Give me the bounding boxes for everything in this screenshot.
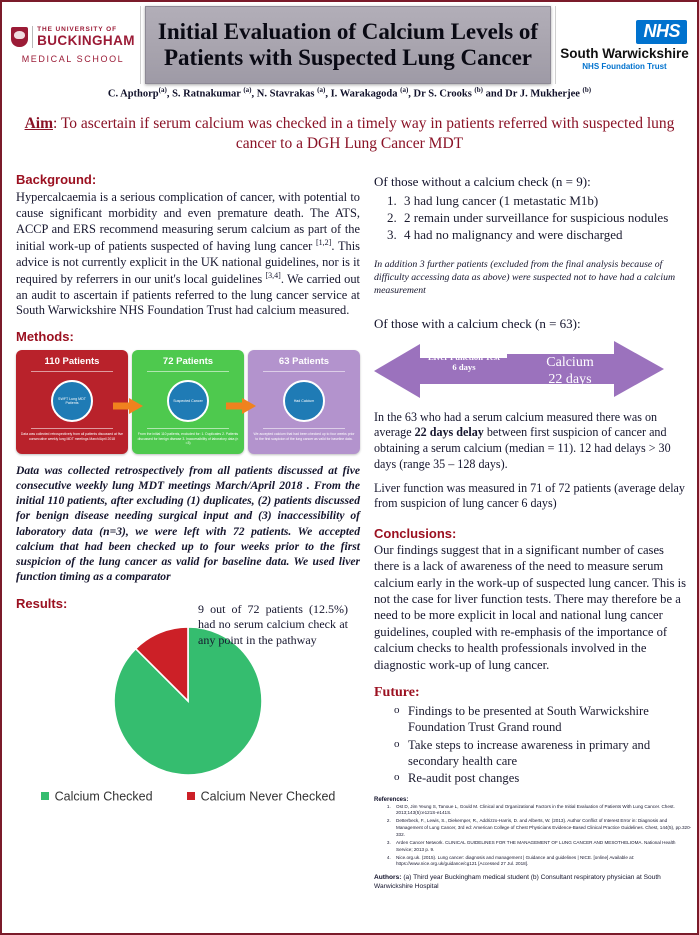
pie-chart-legend: Calcium Checked Calcium Never Checked <box>41 789 336 804</box>
future-section: Future: Findings to be presented at Sout… <box>374 685 692 787</box>
delay-text-bold: 22 days delay <box>415 425 484 439</box>
list-item: 4 had no malignancy and were discharged <box>400 226 692 243</box>
results-note: 9 out of 72 patients (12.5%) had no seru… <box>198 602 348 649</box>
legend-item-checked: Calcium Checked <box>41 789 153 804</box>
legend-label-never-checked: Calcium Never Checked <box>201 789 336 803</box>
flow-box-63-rule <box>263 371 346 372</box>
methods-caption: Data was collected retrospectively from … <box>16 463 360 584</box>
flow-box-72-rule <box>147 371 230 372</box>
references-list: Ost D, Jim Yeung S, Tanoue L, Gould M. C… <box>374 804 692 868</box>
authors-note: Authors: (a) Third year Buckingham medic… <box>374 874 692 892</box>
list-item: 3 had lung cancer (1 metastatic M1b) <box>400 192 692 209</box>
aim-statement: Aim: To ascertain if serum calcium was c… <box>18 114 681 154</box>
list-item: Arden Cancer Network. CLINICAL GUIDELINE… <box>392 840 692 853</box>
methods-heading: Methods: <box>16 329 360 344</box>
poster-title-banner: Initial Evaluation of Calcium Levels of … <box>145 6 551 84</box>
background-heading: Background: <box>16 172 360 187</box>
list-item: Detterbeck, F., Lewis, S., Diekemper, R.… <box>392 818 692 838</box>
flow-box-110: 110 Patients SWFT Lung MDT Patients Data… <box>16 350 128 454</box>
buckingham-line2: BUCKINGHAM <box>37 34 135 48</box>
without-check-list: 3 had lung cancer (1 metastatic M1b) 2 r… <box>374 192 692 243</box>
authors-note-text: (a) Third year Buckingham medical studen… <box>374 874 661 890</box>
list-item: Re-audit post changes <box>394 770 692 786</box>
without-check-lead: Of those without a calcium check (n = 9)… <box>374 174 692 190</box>
flow-box-72-foot: From the initial 110 patients, excluded … <box>132 429 244 446</box>
list-item: Ost D, Jim Yeung S, Tanoue L, Gould M. C… <box>392 804 692 817</box>
references-section: References: Ost D, Jim Yeung S, Tanoue L… <box>374 797 692 892</box>
legend-label-checked: Calcium Checked <box>55 789 153 803</box>
left-arrow-label-line2: 6 days <box>406 362 522 373</box>
results-section: Results: 9 out of 72 patients (12.5%) ha… <box>16 596 360 804</box>
nhs-trust-name: South Warwickshire <box>560 46 689 61</box>
poster-header: THE UNIVERSITY OF BUCKINGHAM MEDICAL SCH… <box>6 6 693 84</box>
flow-arrow-right-icon-2 <box>226 398 256 414</box>
flow-box-110-foot: Data was collected retrospectively from … <box>16 429 128 441</box>
logo-divider <box>32 26 33 48</box>
delay-text: In the 63 who had a serum calcium measur… <box>374 410 692 473</box>
list-item: 2 remain under surveillance for suspicio… <box>400 209 692 226</box>
future-heading: Future: <box>374 685 692 701</box>
buckingham-crest-icon <box>11 27 28 47</box>
list-item: Nice.org.uk. (2015). Lung cancer: diagno… <box>392 855 692 868</box>
pie-chart <box>114 627 262 775</box>
flow-box-110-circle: SWFT Lung MDT Patients <box>51 380 93 422</box>
flow-box-72-circle: Suspected Cancer <box>167 380 209 422</box>
buckingham-logo-row: THE UNIVERSITY OF BUCKINGHAM <box>11 26 135 48</box>
legend-swatch-checked <box>41 792 49 800</box>
poster-title-line1: Initial Evaluation of Calcium Levels of <box>158 19 538 45</box>
right-column: Of those without a calcium check (n = 9)… <box>374 174 692 892</box>
left-arrow-label: Liver Function Test 6 days <box>406 352 522 373</box>
right-arrow-label-line2: 22 days <box>514 371 626 389</box>
buckingham-logo: THE UNIVERSITY OF BUCKINGHAM MEDICAL SCH… <box>6 6 141 84</box>
delay-arrow-figure: Liver Function Test 6 days Calcium 22 da… <box>374 340 692 402</box>
liver-function-text: Liver function was measured in 71 of 72 … <box>374 481 692 512</box>
author-list: C. Apthorp(a), S. Ratnakumar (a), N. Sta… <box>2 86 697 102</box>
aim-text: : To ascertain if serum calcium was chec… <box>53 115 674 152</box>
left-arrow-label-line1: Liver Function Test <box>406 352 522 363</box>
flow-box-63: 63 Patients Had Calcium We accepted calc… <box>248 350 360 454</box>
flow-box-63-foot: We accepted calcium that had been checke… <box>248 429 360 441</box>
conclusions-heading: Conclusions: <box>374 526 692 541</box>
buckingham-line3: MEDICAL SCHOOL <box>22 54 125 64</box>
methods-flow-diagram: 110 Patients SWFT Lung MDT Patients Data… <box>16 350 360 454</box>
flow-box-72-head: 72 Patients <box>163 356 213 367</box>
legend-swatch-never-checked <box>187 792 195 800</box>
nhs-logo: NHS South Warwickshire NHS Foundation Tr… <box>555 6 693 84</box>
flow-box-110-rule <box>31 371 114 372</box>
conclusions-text: Our findings suggest that in a significa… <box>374 542 692 673</box>
addition-note: In addition 3 further patients (excluded… <box>374 259 692 297</box>
future-heading-colon: : <box>415 685 420 700</box>
nhs-badge: NHS <box>636 20 687 44</box>
references-heading: References: <box>374 797 692 803</box>
aim-label: Aim <box>25 115 53 132</box>
flow-box-63-head: 63 Patients <box>279 356 329 367</box>
flow-box-63-circle: Had Calcium <box>283 380 325 422</box>
flow-arrow-right-icon-1 <box>113 398 143 414</box>
nhs-trust-sub: NHS Foundation Trust <box>582 62 666 71</box>
with-check-lead: Of those with a calcium check (n = 63): <box>374 316 692 332</box>
flow-box-110-head: 110 Patients <box>45 356 100 367</box>
background-text: Hypercalcaemia is a serious complication… <box>16 190 360 319</box>
buckingham-wordmark: THE UNIVERSITY OF BUCKINGHAM <box>37 27 135 48</box>
authors-note-label: Authors: <box>374 874 401 881</box>
poster-root: THE UNIVERSITY OF BUCKINGHAM MEDICAL SCH… <box>0 0 699 935</box>
list-item: Take steps to increase awareness in prim… <box>394 737 692 770</box>
conclusions-section: Conclusions: Our findings suggest that i… <box>374 526 692 673</box>
list-item: Findings to be presented at South Warwic… <box>394 703 692 736</box>
poster-title-line2: Patients with Suspected Lung Cancer <box>164 45 532 71</box>
right-arrow-label: Calcium 22 days <box>514 354 626 389</box>
future-heading-word: Future <box>374 685 415 700</box>
legend-item-never-checked: Calcium Never Checked <box>187 789 336 804</box>
pie-chart-figure: Calcium Checked Calcium Never Checked <box>16 627 360 804</box>
right-arrow-label-line1: Calcium <box>514 354 626 372</box>
future-list: Findings to be presented at South Warwic… <box>374 703 692 787</box>
left-column: Background: Hypercalcaemia is a serious … <box>16 172 360 803</box>
methods-section: Methods: 110 Patients SWFT Lung MDT Pati… <box>16 329 360 584</box>
